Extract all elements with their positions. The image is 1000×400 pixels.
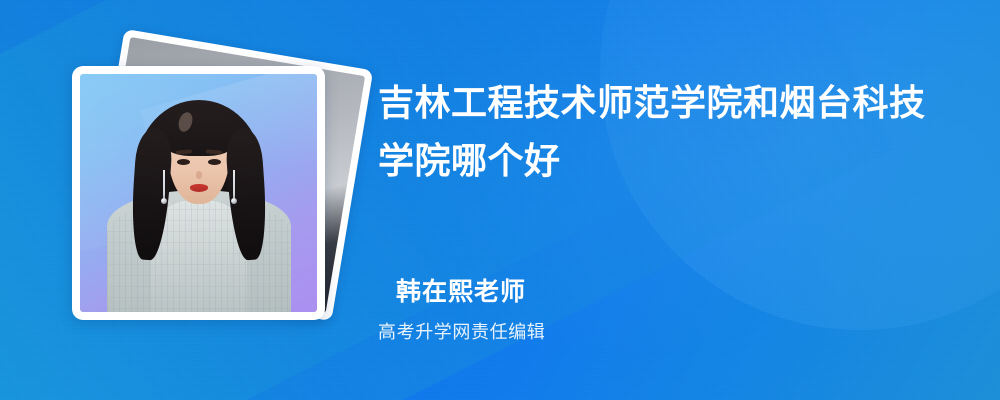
portrait-nose <box>196 171 202 179</box>
photo-card-stack <box>60 34 360 364</box>
portrait-hair-front <box>160 110 238 156</box>
portrait-earring-left <box>163 170 165 200</box>
portrait-earring-right <box>233 170 235 200</box>
portrait-lips <box>190 184 208 192</box>
portrait-illustration <box>80 74 317 312</box>
portrait-earring-bead-left <box>161 198 167 204</box>
photo-card-front <box>72 66 325 320</box>
portrait-eye-right <box>208 159 221 165</box>
author-name: 韩在熙老师 <box>396 272 526 308</box>
portrait-eye-left <box>177 159 190 165</box>
banner-text-block: 吉林工程技术师范学院和烟台科技学院哪个好 韩在熙老师 高考升学网责任编辑 <box>378 0 978 400</box>
portrait-earring-bead-right <box>231 198 237 204</box>
avatar-photo <box>80 74 317 312</box>
article-title-line-1: 吉林工程技术师范学院和烟台科技 <box>378 82 926 123</box>
author-role: 高考升学网责任编辑 <box>378 318 545 344</box>
article-title: 吉林工程技术师范学院和烟台科技学院哪个好 <box>378 74 958 190</box>
article-title-line-2: 学院哪个好 <box>378 140 561 181</box>
article-header-banner: 吉林工程技术师范学院和烟台科技学院哪个好 韩在熙老师 高考升学网责任编辑 <box>0 0 1000 400</box>
